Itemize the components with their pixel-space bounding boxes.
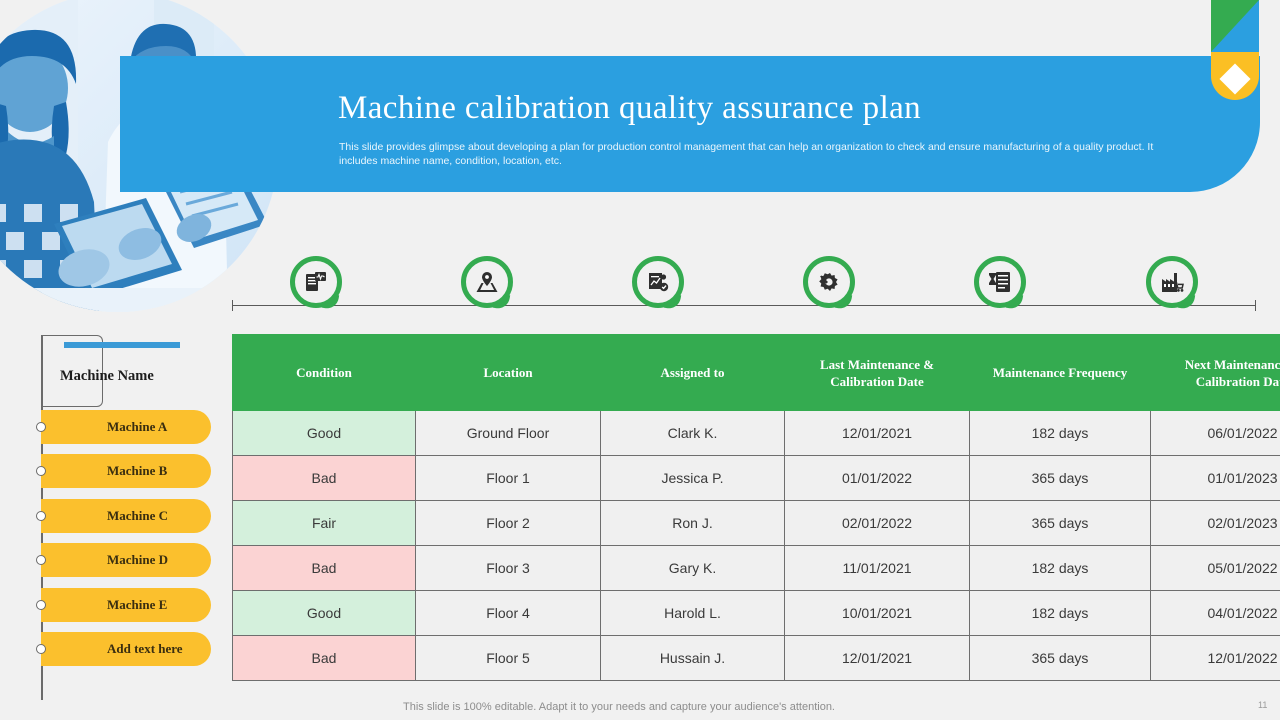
cell-last-date: 12/01/2021 — [785, 636, 970, 681]
sidebar-item-marker-dot — [36, 600, 46, 610]
cell-location: Floor 3 — [416, 546, 601, 591]
cell-next-date: 05/01/2022 — [1151, 546, 1280, 591]
table-head: Condition Location Assigned to Last Main… — [233, 335, 1280, 411]
cell-last-date: 12/01/2021 — [785, 411, 970, 456]
cell-condition: Good — [233, 411, 416, 456]
table-row: GoodFloor 4Harold L.10/01/2021182 days04… — [233, 591, 1280, 636]
sidebar-item-marker-dot — [36, 466, 46, 476]
sidebar-item-machine-2[interactable]: Machine B — [41, 454, 211, 488]
document-check-icon — [632, 256, 684, 308]
cell-condition: Bad — [233, 546, 416, 591]
cell-next-date: 04/01/2022 — [1151, 591, 1280, 636]
map-pin-icon — [461, 256, 513, 308]
page-number: 11 — [1258, 700, 1267, 710]
cell-condition: Bad — [233, 636, 416, 681]
page-subtitle: This slide provides glimpse about develo… — [339, 140, 1189, 168]
sidebar-item-marker-dot — [36, 422, 46, 432]
table-body: GoodGround FloorClark K.12/01/2021182 da… — [233, 411, 1280, 681]
cell-next-date: 02/01/2023 — [1151, 501, 1280, 546]
cell-last-date: 01/01/2022 — [785, 456, 970, 501]
footer-note: This slide is 100% editable. Adapt it to… — [403, 701, 835, 713]
column-header-location: Location — [416, 335, 601, 411]
column-header-frequency: Maintenance Frequency — [970, 335, 1151, 411]
timeline-icon-1[interactable] — [290, 256, 342, 308]
ribbon-top-triangle — [1211, 0, 1259, 52]
sidebar-item-marker-dot — [36, 555, 46, 565]
cell-assigned-to: Jessica P. — [601, 456, 785, 501]
column-header-condition: Condition — [233, 335, 416, 411]
cell-frequency: 182 days — [970, 591, 1151, 636]
cell-location: Floor 4 — [416, 591, 601, 636]
cell-assigned-to: Gary K. — [601, 546, 785, 591]
gear-wrench-icon — [803, 256, 855, 308]
sidebar-item-machine-1[interactable]: Machine A — [41, 410, 211, 444]
table-header-row: Condition Location Assigned to Last Main… — [233, 335, 1280, 411]
cell-assigned-to: Harold L. — [601, 591, 785, 636]
timeline-axis — [232, 305, 1256, 306]
cell-last-date: 02/01/2022 — [785, 501, 970, 546]
sidebar-item-marker-dot — [36, 644, 46, 654]
sidebar-item-label: Machine E — [107, 588, 167, 622]
timeline-icon-3[interactable] — [632, 256, 684, 308]
cell-last-date: 10/01/2021 — [785, 591, 970, 636]
sidebar-item-label: Machine C — [107, 499, 168, 533]
sidebar-item-machine-6[interactable]: Add text here — [41, 632, 211, 666]
cell-location: Ground Floor — [416, 411, 601, 456]
column-header-next-date: Next Maintenance & Calibration Date — [1151, 335, 1280, 411]
cell-frequency: 365 days — [970, 636, 1151, 681]
cell-next-date: 12/01/2022 — [1151, 636, 1280, 681]
cell-frequency: 182 days — [970, 546, 1151, 591]
sidebar-item-label: Machine B — [107, 454, 167, 488]
table-row: GoodGround FloorClark K.12/01/2021182 da… — [233, 411, 1280, 456]
timeline-icon-2[interactable] — [461, 256, 513, 308]
table-row: BadFloor 3Gary K.11/01/2021182 days05/01… — [233, 546, 1280, 591]
sidebar-item-machine-3[interactable]: Machine C — [41, 499, 211, 533]
cell-next-date: 01/01/2023 — [1151, 456, 1280, 501]
cell-condition: Good — [233, 591, 416, 636]
cell-assigned-to: Ron J. — [601, 501, 785, 546]
timeline-icon-4[interactable] — [803, 256, 855, 308]
document-list-icon — [974, 256, 1026, 308]
cell-location: Floor 1 — [416, 456, 601, 501]
column-header-assigned-to: Assigned to — [601, 335, 785, 411]
corner-ribbon-badge — [1211, 0, 1259, 100]
cell-assigned-to: Hussain J. — [601, 636, 785, 681]
cell-frequency: 365 days — [970, 456, 1151, 501]
table-row: BadFloor 1Jessica P.01/01/2022365 days01… — [233, 456, 1280, 501]
cell-next-date: 06/01/2022 — [1151, 411, 1280, 456]
cell-assigned-to: Clark K. — [601, 411, 785, 456]
factory-cart-icon — [1146, 256, 1198, 308]
cell-location: Floor 2 — [416, 501, 601, 546]
table-row: BadFloor 5Hussain J.12/01/2021365 days12… — [233, 636, 1280, 681]
cell-last-date: 11/01/2021 — [785, 546, 970, 591]
cell-frequency: 182 days — [970, 411, 1151, 456]
sidebar-item-label: Machine A — [107, 410, 167, 444]
sidebar-item-machine-4[interactable]: Machine D — [41, 543, 211, 577]
sidebar-accent-bar — [64, 342, 180, 348]
cell-condition: Bad — [233, 456, 416, 501]
cell-location: Floor 5 — [416, 636, 601, 681]
sidebar-item-label: Machine D — [107, 543, 168, 577]
sidebar-item-label: Add text here — [107, 632, 183, 666]
machine-calibration-table: Condition Location Assigned to Last Main… — [232, 334, 1280, 681]
cell-frequency: 365 days — [970, 501, 1151, 546]
column-header-last-date: Last Maintenance & Calibration Date — [785, 335, 970, 411]
page-title: Machine calibration quality assurance pl… — [338, 90, 1238, 127]
cell-condition: Fair — [233, 501, 416, 546]
sidebar-item-machine-5[interactable]: Machine E — [41, 588, 211, 622]
timeline-icon-5[interactable] — [974, 256, 1026, 308]
timeline-icon-6[interactable] — [1146, 256, 1198, 308]
clipboard-chart-icon — [290, 256, 342, 308]
sidebar-title: Machine Name — [60, 368, 154, 385]
table-row: FairFloor 2Ron J.02/01/2022365 days02/01… — [233, 501, 1280, 546]
sidebar-item-marker-dot — [36, 511, 46, 521]
